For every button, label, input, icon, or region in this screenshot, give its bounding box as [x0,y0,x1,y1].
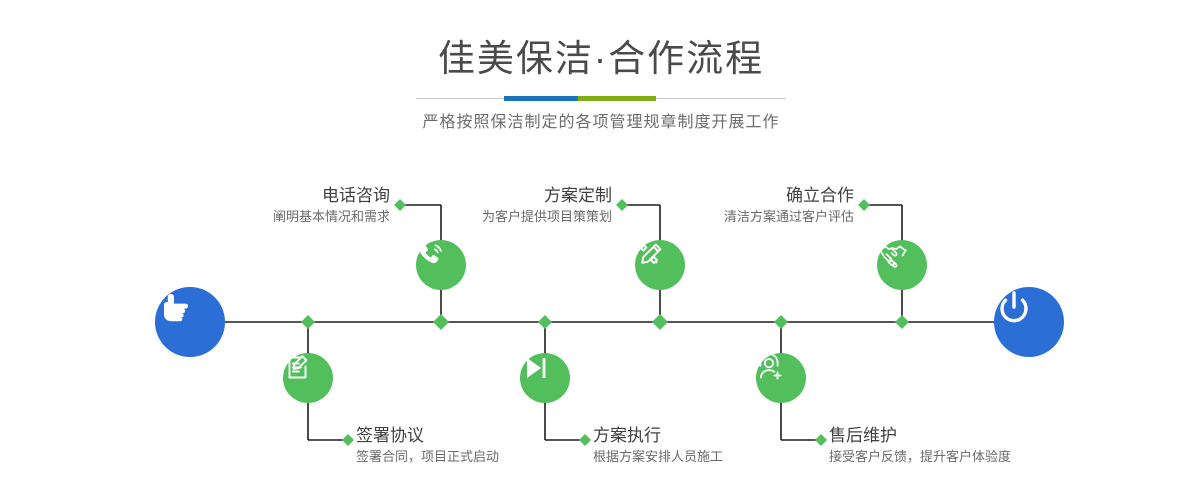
flow-end-node[interactable] [994,287,1064,357]
timeline-diamond-step-4 [538,315,552,329]
process-flow-diagram: 电话咨询 阐明基本情况和需求 方案定制 为客户提供项目策策划 确立合作 清洁方案… [0,0,1202,502]
label-diamond-step-5 [858,199,870,211]
step-5-title: 确立合作 [564,185,854,207]
step-5-icon-circle[interactable] [877,240,927,290]
timeline-diamond-step-3 [652,314,668,330]
flow-start-node[interactable] [155,287,225,357]
step-1-icon-circle[interactable] [416,240,466,290]
label-diamond-step-2 [342,434,354,446]
step-5-label: 确立合作 清洁方案通过客户评估 [564,185,854,227]
step-3-icon-circle[interactable] [635,240,685,290]
step-4-icon-circle[interactable] [520,353,570,403]
timeline-diamond-step-1 [433,314,449,330]
timeline-diamond-step-6 [774,315,788,329]
timeline-diamond-step-5 [895,315,909,329]
step-6-desc: 接受客户反馈，提升客户体验度 [829,447,1149,467]
step-6-icon-circle[interactable] [756,353,806,403]
step-6-label: 售后维护 接受客户反馈，提升客户体验度 [829,425,1149,467]
step-5-desc: 清洁方案通过客户评估 [564,207,854,227]
step-6-title: 售后维护 [829,425,1149,447]
step-2-icon-circle[interactable] [283,353,333,403]
timeline-diamond-step-2 [301,315,315,329]
